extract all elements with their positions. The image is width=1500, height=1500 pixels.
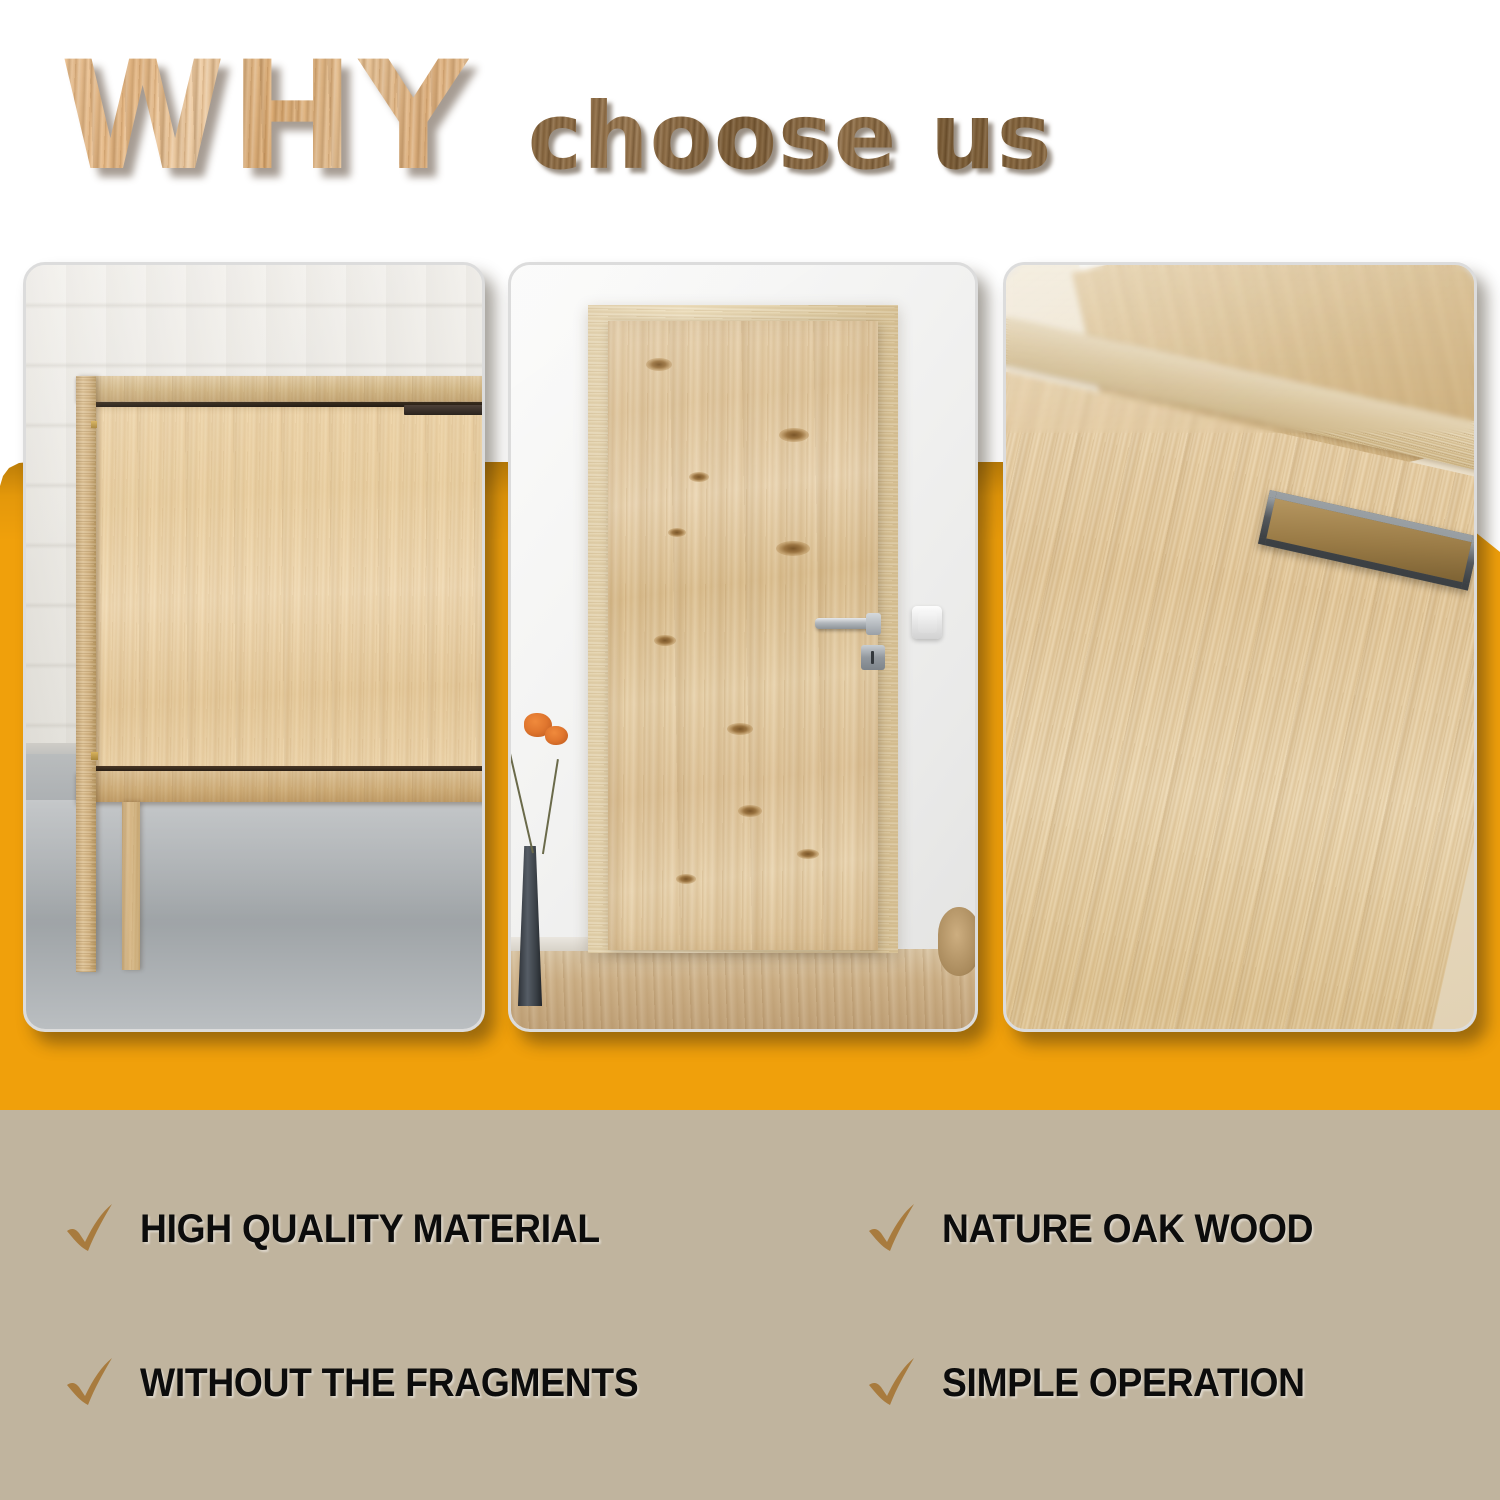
door-lock-escutcheon bbox=[861, 645, 885, 669]
why-choose-us-infographic: WHY choose us bbox=[0, 0, 1500, 1500]
round-wood-stool bbox=[938, 907, 975, 976]
wood-knot bbox=[738, 805, 762, 817]
drawer-photo bbox=[1006, 265, 1474, 1029]
wood-knot bbox=[797, 849, 819, 859]
feature-item: WITHOUT THE FRAGMENTS bbox=[60, 1352, 676, 1414]
feature-item: HIGH QUALITY MATERIAL bbox=[60, 1198, 634, 1260]
feature-label: HIGH QUALITY MATERIAL bbox=[140, 1207, 600, 1252]
cabinet-top-panel bbox=[76, 376, 482, 401]
headline-secondary: choose us bbox=[528, 91, 1053, 183]
depth-of-field-blur bbox=[1006, 265, 1474, 433]
wood-floor bbox=[511, 949, 975, 1029]
feature-item: NATURE OAK WOOD bbox=[862, 1198, 1341, 1260]
gallery-image-drawer[interactable] bbox=[1003, 262, 1477, 1032]
check-icon bbox=[862, 1198, 924, 1260]
cabinet-front-leg bbox=[122, 802, 140, 970]
wood-knot bbox=[776, 541, 810, 556]
wood-grain-texture bbox=[76, 376, 482, 401]
door-photo bbox=[511, 265, 975, 1029]
headline-primary: WHY bbox=[60, 42, 472, 192]
door-handle-rosette bbox=[866, 613, 881, 634]
cabinet-photo bbox=[26, 265, 482, 1029]
feature-label: NATURE OAK WOOD bbox=[942, 1207, 1313, 1252]
wood-knot bbox=[668, 528, 686, 537]
wood-knot bbox=[654, 635, 676, 646]
check-icon bbox=[60, 1352, 122, 1414]
gallery-image-door[interactable] bbox=[508, 262, 978, 1032]
feature-label: WITHOUT THE FRAGMENTS bbox=[140, 1361, 638, 1406]
floor-grain-texture bbox=[511, 949, 975, 1029]
oak-door-leaf bbox=[608, 321, 878, 950]
page-title: WHY choose us bbox=[60, 42, 1053, 192]
light-switch bbox=[912, 606, 942, 640]
check-icon bbox=[862, 1352, 924, 1414]
cabinet-hinge-top bbox=[91, 421, 96, 429]
cabinet-bottom-rail bbox=[76, 771, 482, 802]
wood-grain-texture bbox=[92, 407, 482, 768]
gallery-image-cabinet[interactable] bbox=[23, 262, 485, 1032]
wood-knot bbox=[727, 723, 753, 735]
check-icon bbox=[60, 1198, 122, 1260]
wood-grain-texture bbox=[76, 771, 482, 802]
door-grain-texture bbox=[608, 321, 878, 950]
wood-knot bbox=[779, 428, 809, 442]
wood-knot bbox=[676, 874, 696, 884]
edge-band-texture bbox=[76, 376, 96, 972]
cabinet-door-panel bbox=[92, 407, 482, 768]
cabinet-handle bbox=[404, 405, 482, 416]
features-panel-background bbox=[0, 1110, 1500, 1500]
feature-item: SIMPLE OPERATION bbox=[862, 1352, 1332, 1414]
cabinet-left-leg bbox=[76, 376, 96, 972]
wood-grain-texture bbox=[122, 802, 140, 970]
wood-knot bbox=[689, 472, 709, 482]
feature-label: SIMPLE OPERATION bbox=[942, 1361, 1305, 1406]
cabinet-hinge-bottom bbox=[91, 752, 97, 760]
wood-knot bbox=[646, 358, 672, 371]
